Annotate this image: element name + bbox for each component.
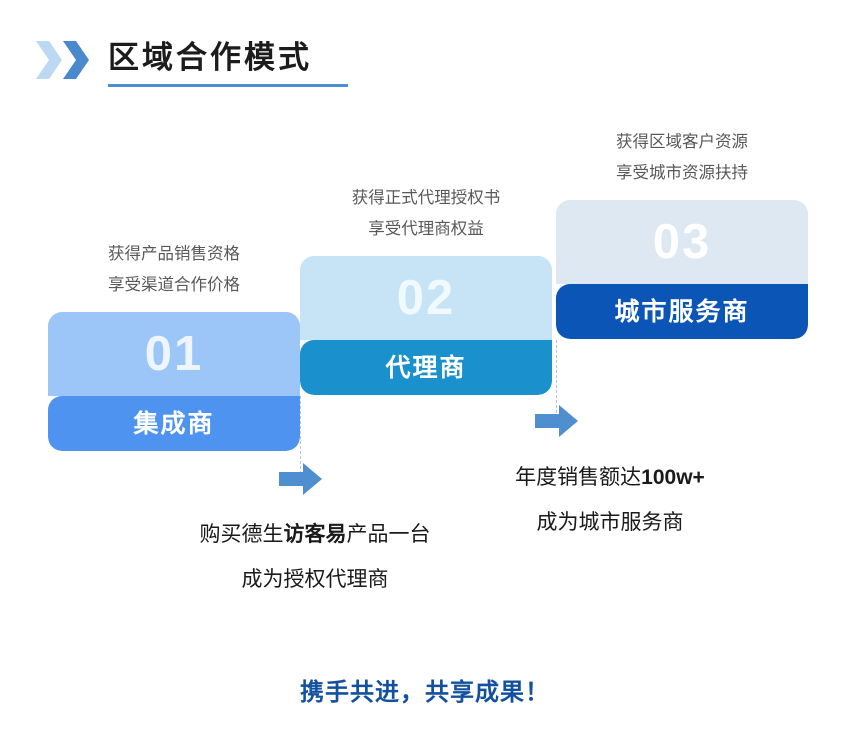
step-03-card[interactable]: 03 城市服务商 — [556, 200, 808, 339]
partnership-tier-diagram: 获得产品销售资格 享受渠道合作价格 01 集成商 获得正式代理授权书 享受代理商… — [0, 0, 850, 737]
step-03-caption: 获得区域客户资源 享受城市资源扶持 — [556, 127, 808, 189]
step-01-card-top: 01 — [48, 312, 300, 396]
step-02-caption-line-2: 享受代理商权益 — [300, 214, 552, 245]
step-01-card[interactable]: 01 集成商 — [48, 312, 300, 451]
step-01-card-band: 集成商 — [48, 396, 300, 451]
step-02-card-band: 代理商 — [300, 340, 552, 395]
note-1-line-1-suffix: 产品一台 — [347, 523, 431, 546]
step-03-number: 03 — [556, 216, 808, 268]
note-1-line-2: 成为授权代理商 — [135, 557, 495, 602]
step-03-caption-line-1: 获得区域客户资源 — [556, 127, 808, 158]
arrow-right-icon-1 — [279, 462, 323, 496]
note-2-line-2: 成为城市服务商 — [430, 500, 790, 545]
arrow-right-icon-2 — [535, 404, 579, 438]
step-01-caption: 获得产品销售资格 享受渠道合作价格 — [48, 239, 300, 301]
note-2-line-1-bold: 100w+ — [641, 466, 705, 489]
step-03-caption-line-2: 享受城市资源扶持 — [556, 158, 808, 189]
step-02-name: 代理商 — [300, 354, 552, 382]
step-02-card[interactable]: 02 代理商 — [300, 256, 552, 395]
step-01-name: 集成商 — [48, 410, 300, 438]
step-02-card-top: 02 — [300, 256, 552, 340]
step-01-caption-line-2: 享受渠道合作价格 — [48, 270, 300, 301]
step-01-number: 01 — [48, 328, 300, 380]
note-2: 年度销售额达100w+ 成为城市服务商 — [430, 455, 790, 545]
step-03-card-top: 03 — [556, 200, 808, 284]
step-03-name: 城市服务商 — [556, 298, 808, 326]
note-1-line-1-bold: 访客易 — [284, 523, 347, 546]
step-03-card-band: 城市服务商 — [556, 284, 808, 339]
note-2-line-1: 年度销售额达100w+ — [430, 455, 790, 500]
footer-slogan: 携手共进，共享成果！ — [0, 672, 850, 707]
note-1-line-1-prefix: 购买德生 — [200, 523, 284, 546]
step-02-caption: 获得正式代理授权书 享受代理商权益 — [300, 183, 552, 245]
note-2-line-1-prefix: 年度销售额达 — [515, 466, 641, 489]
step-02-number: 02 — [300, 272, 552, 324]
step-02-caption-line-1: 获得正式代理授权书 — [300, 183, 552, 214]
step-01-caption-line-1: 获得产品销售资格 — [48, 239, 300, 270]
